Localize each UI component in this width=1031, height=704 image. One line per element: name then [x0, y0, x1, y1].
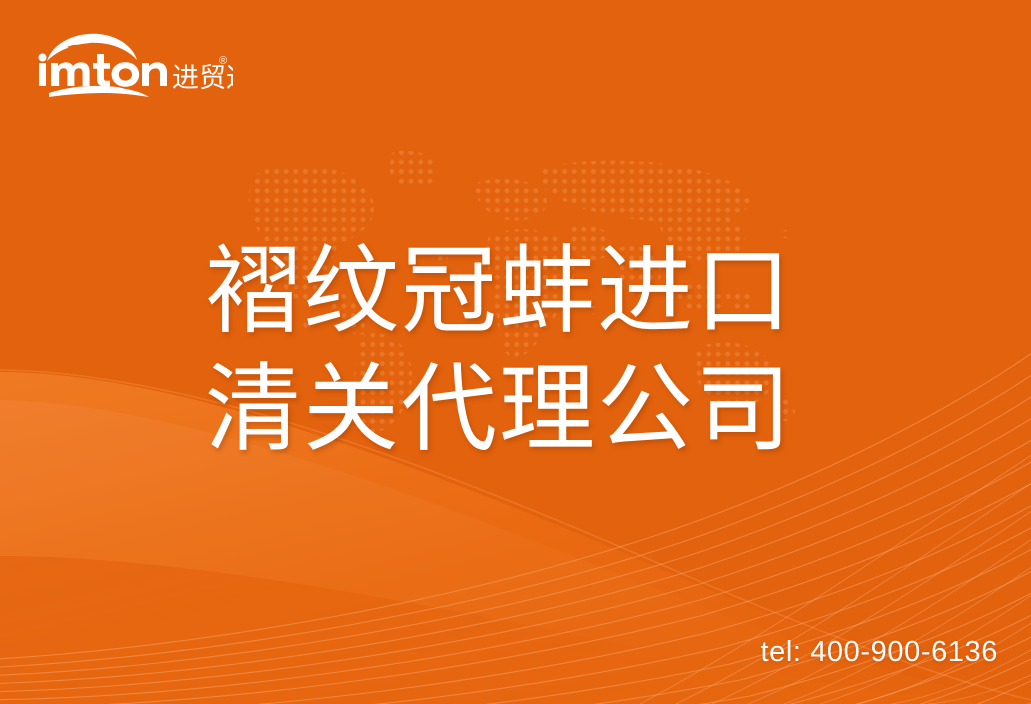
headline-line-2: 清关代理公司: [205, 350, 845, 468]
contact-phone[interactable]: tel: 400-900-6136: [760, 636, 998, 669]
brand-logo[interactable]: 进贸通 ®: [33, 27, 233, 101]
promo-banner: 进贸通 ® 褶纹冠蚌进口 清关代理公司 tel: 400-900-6136: [0, 0, 1031, 704]
globe-arc-icon: [47, 34, 137, 61]
logo-chinese-name: 进贸通: [172, 63, 233, 94]
logo-wordmark: [39, 54, 168, 87]
trademark-symbol: ®: [219, 55, 227, 67]
headline-line-1: 褶纹冠蚌进口: [205, 232, 845, 350]
page-title: 褶纹冠蚌进口 清关代理公司: [205, 232, 845, 468]
swoosh-ribbon-icon: [49, 86, 149, 97]
